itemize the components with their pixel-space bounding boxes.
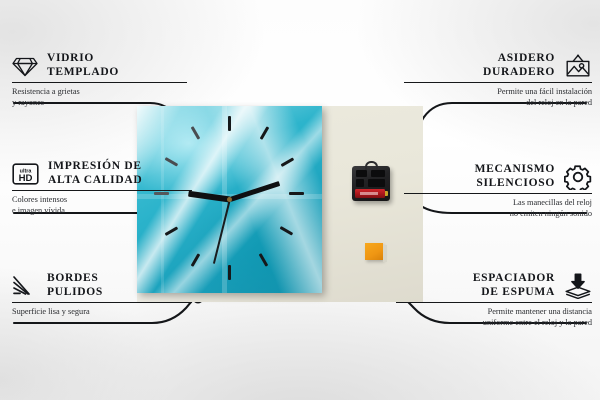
- hour-tick: [165, 226, 178, 235]
- feature-description: Las manecillas del reloj no emiten ningú…: [404, 198, 592, 219]
- feature-header: VIDRIO TEMPLADO: [12, 52, 187, 79]
- hour-tick: [191, 126, 200, 139]
- hour-tick: [191, 253, 200, 266]
- hour-tick: [289, 192, 304, 195]
- feature-bordes-pulidos: BORDES PULIDOS Superficie lisa y segura: [12, 272, 192, 318]
- hour-tick: [280, 226, 293, 235]
- clock-center-cap: [227, 197, 232, 202]
- hour-tick: [228, 265, 231, 280]
- feature-title: ESPACIADOR DE ESPUMA: [473, 272, 555, 299]
- polished-edges-icon: [12, 275, 38, 297]
- svg-text:HD: HD: [19, 173, 33, 184]
- clock-mechanism: [352, 166, 390, 201]
- foam-spacer-part: [365, 243, 383, 260]
- feature-description: Superficie lisa y segura: [12, 307, 192, 318]
- divider: [404, 82, 592, 83]
- feature-title: VIDRIO TEMPLADO: [47, 52, 119, 79]
- battery-label-band: [360, 192, 378, 195]
- mechanism-slot: [368, 179, 385, 187]
- hour-tick: [228, 116, 231, 131]
- feature-description: Permite una fácil instalación del reloj …: [404, 87, 592, 108]
- divider: [12, 302, 192, 303]
- hour-tick: [281, 157, 294, 166]
- feature-header: ASIDERO DURADERO: [404, 52, 592, 79]
- feature-title: ASIDERO DURADERO: [483, 52, 555, 79]
- diamond-icon: [12, 55, 38, 77]
- feature-title: BORDES PULIDOS: [47, 272, 103, 299]
- feature-description: Permite mantener una distancia uniforme …: [396, 307, 592, 328]
- mechanism-battery: [355, 189, 385, 198]
- feature-description: Colores intensos e imagen vívida: [12, 195, 192, 216]
- feature-impresion-alta-calidad: ultra HD IMPRESIÓN DE ALTA CALIDAD Color…: [12, 160, 192, 216]
- feature-header: ultra HD IMPRESIÓN DE ALTA CALIDAD: [12, 160, 192, 187]
- divider: [396, 302, 592, 303]
- feature-header: BORDES PULIDOS: [12, 272, 192, 299]
- divider: [12, 82, 187, 83]
- feature-vidrio-templado: VIDRIO TEMPLADO Resistencia a grietas y …: [12, 52, 187, 108]
- foam-spacer-icon: [564, 273, 592, 299]
- mechanism-slot: [356, 179, 364, 187]
- feature-header: MECANISMO SILENCIOSO: [404, 163, 592, 190]
- feature-espaciador-de-espuma: ESPACIADOR DE ESPUMA Permite mantener un…: [396, 272, 592, 328]
- feature-title: MECANISMO SILENCIOSO: [475, 163, 555, 190]
- hour-tick: [259, 253, 268, 266]
- ultra-hd-icon: ultra HD: [12, 162, 39, 186]
- feature-title: IMPRESIÓN DE ALTA CALIDAD: [48, 160, 142, 187]
- mechanism-slot: [356, 170, 367, 177]
- divider: [12, 190, 192, 191]
- feature-asidero-duradero: ASIDERO DURADERO Permite una fácil insta…: [404, 52, 592, 108]
- picture-hanger-icon: [564, 54, 592, 78]
- feature-header: ESPACIADOR DE ESPUMA: [396, 272, 592, 299]
- feature-description: Resistencia a grietas y rayones: [12, 87, 187, 108]
- hour-tick: [260, 126, 269, 139]
- mechanism-slot: [371, 170, 385, 177]
- gear-icon: [564, 164, 592, 190]
- feature-mecanismo-silencioso: MECANISMO SILENCIOSO Las manecillas del …: [404, 163, 592, 219]
- mechanism-hanger-loop: [365, 161, 378, 170]
- divider: [404, 193, 592, 194]
